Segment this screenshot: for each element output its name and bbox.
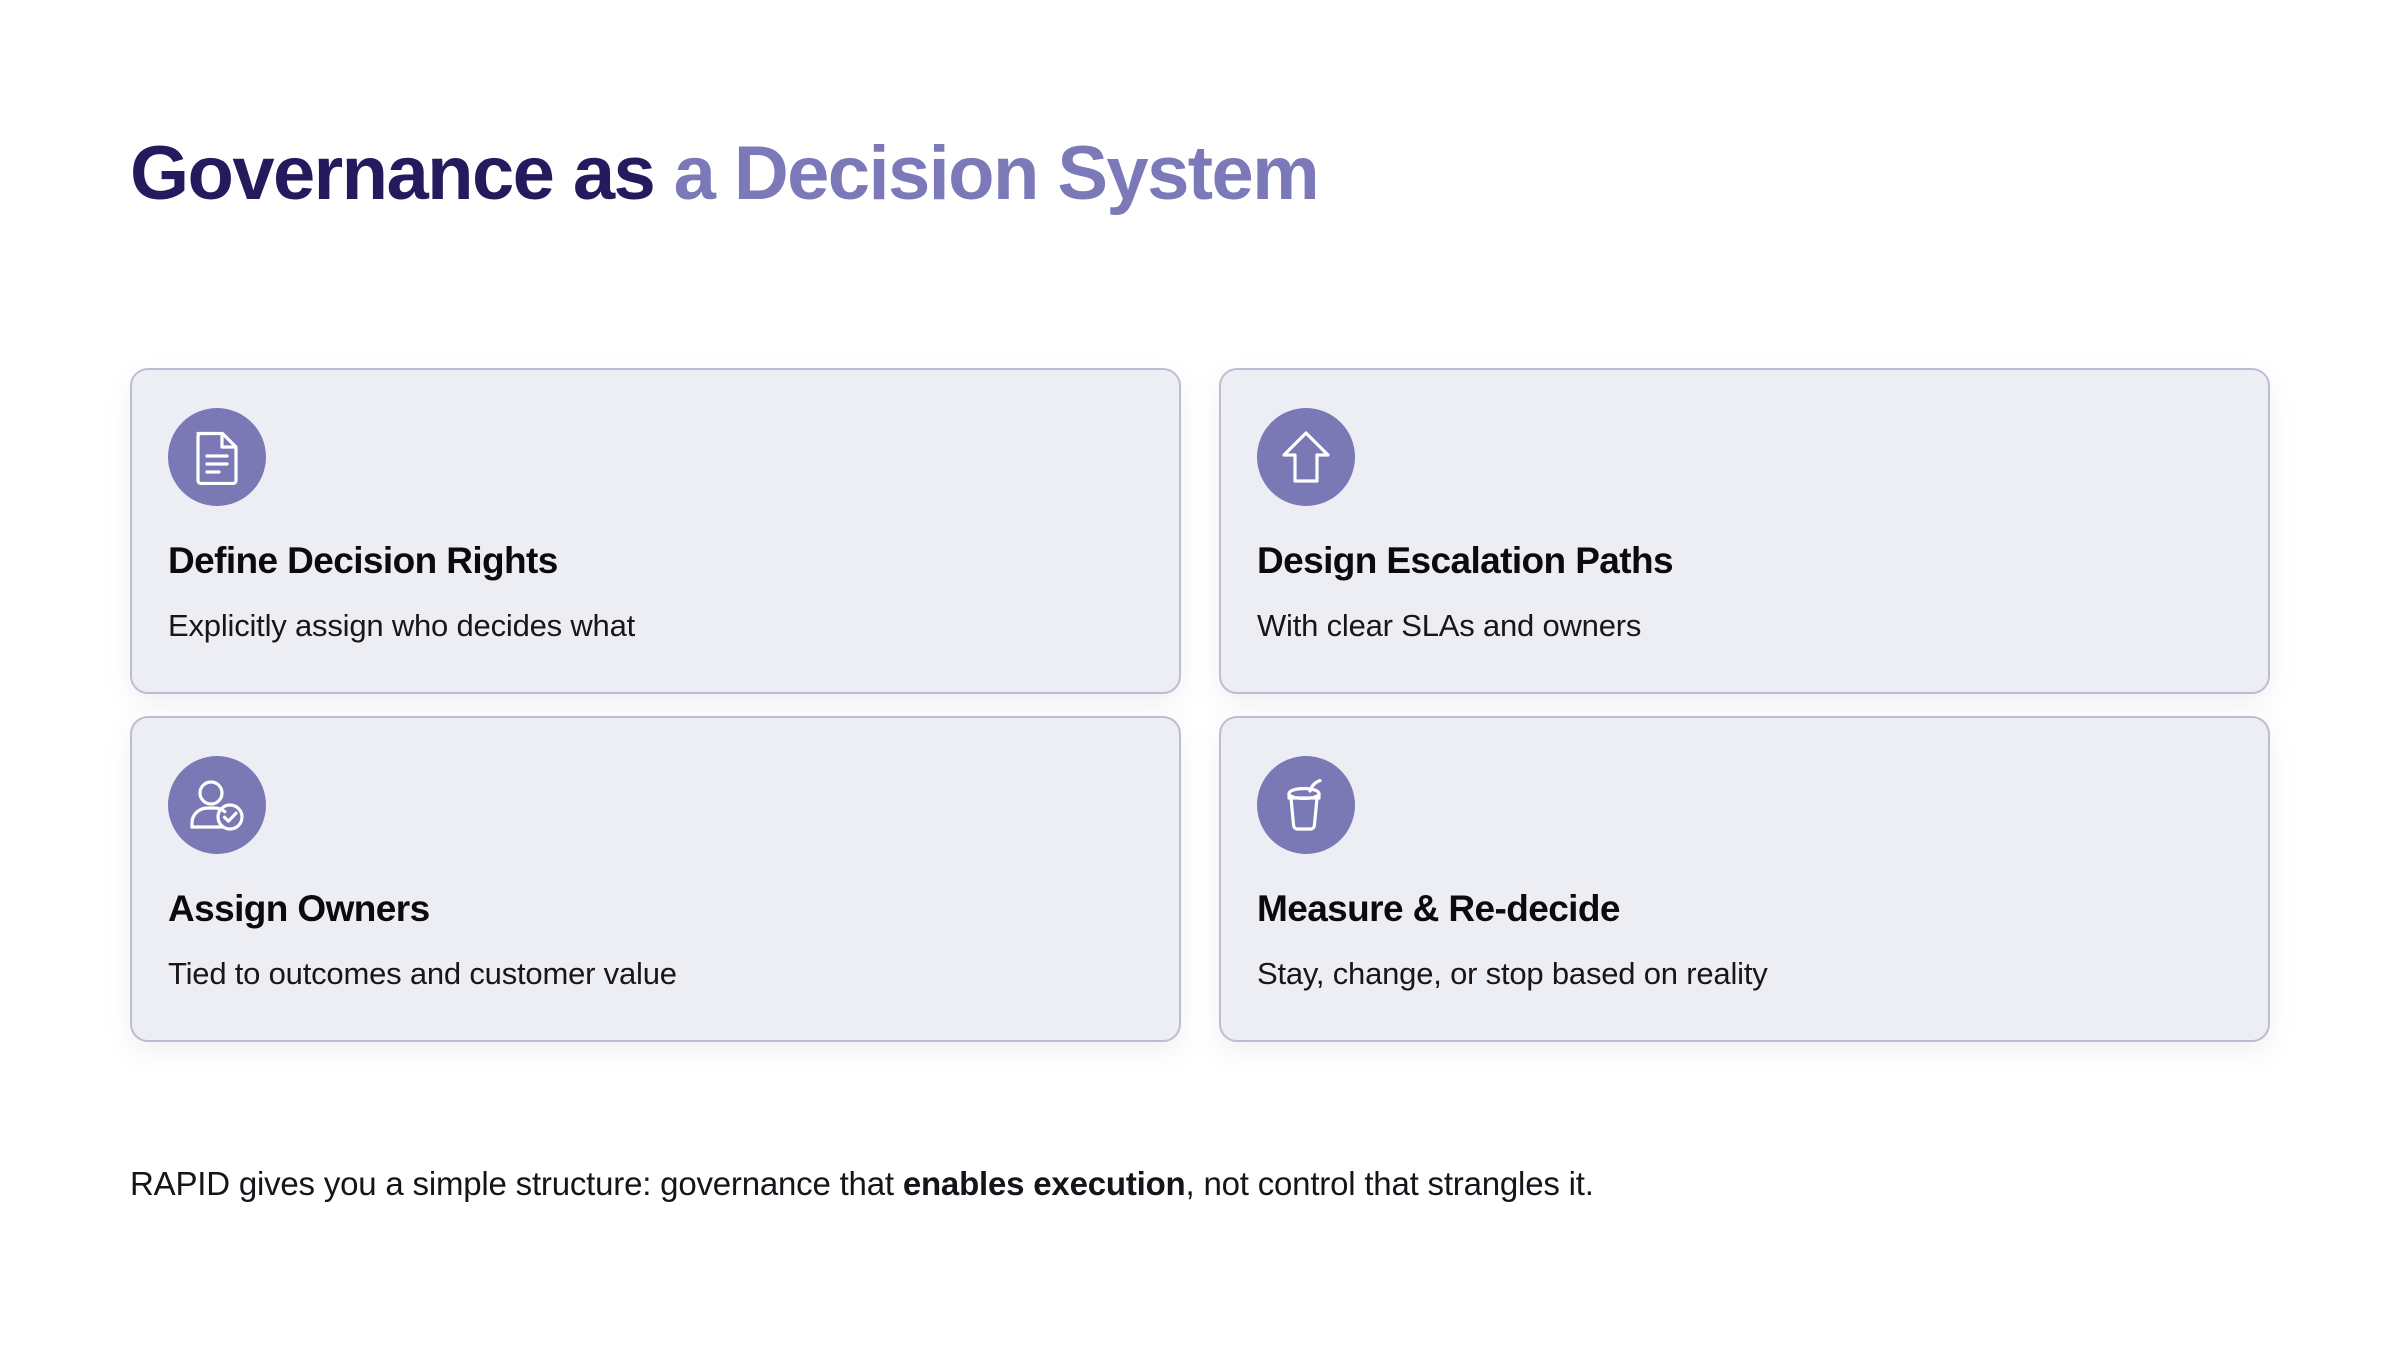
cup-straw-icon xyxy=(1257,756,1355,854)
slide-canvas: Governance as a Decision System Define D… xyxy=(0,0,2400,1350)
card-title: Define Decision Rights xyxy=(168,540,558,583)
user-check-icon xyxy=(168,756,266,854)
card-title: Measure & Re-decide xyxy=(1257,888,1620,931)
card-description: Explicitly assign who decides what xyxy=(168,607,635,644)
footer-note-after: , not control that strangles it. xyxy=(1186,1165,1594,1202)
card-description: Tied to outcomes and customer value xyxy=(168,955,677,992)
footer-note-emphasis: enables execution xyxy=(903,1165,1186,1202)
card-design-escalation-paths[interactable]: Design Escalation Paths With clear SLAs … xyxy=(1219,368,2270,694)
card-description: Stay, change, or stop based on reality xyxy=(1257,955,1768,992)
card-assign-owners[interactable]: Assign Owners Tied to outcomes and custo… xyxy=(130,716,1181,1042)
page-title: Governance as a Decision System xyxy=(130,132,2230,216)
card-title: Design Escalation Paths xyxy=(1257,540,1673,583)
card-description: With clear SLAs and owners xyxy=(1257,607,1641,644)
arrow-up-icon xyxy=(1257,408,1355,506)
footer-note-before: RAPID gives you a simple structure: gove… xyxy=(130,1165,903,1202)
document-icon xyxy=(168,408,266,506)
slide-title-lead: Governance as xyxy=(130,131,674,216)
footer-note: RAPID gives you a simple structure: gove… xyxy=(130,1162,2270,1207)
card-measure-re-decide[interactable]: Measure & Re-decide Stay, change, or sto… xyxy=(1219,716,2270,1042)
slide-title: Governance as a Decision System xyxy=(130,132,2230,216)
card-define-decision-rights[interactable]: Define Decision Rights Explicitly assign… xyxy=(130,368,1181,694)
card-grid: Define Decision Rights Explicitly assign… xyxy=(130,368,2270,1042)
card-title: Assign Owners xyxy=(168,888,430,931)
slide-title-accent: a Decision System xyxy=(674,131,1318,216)
